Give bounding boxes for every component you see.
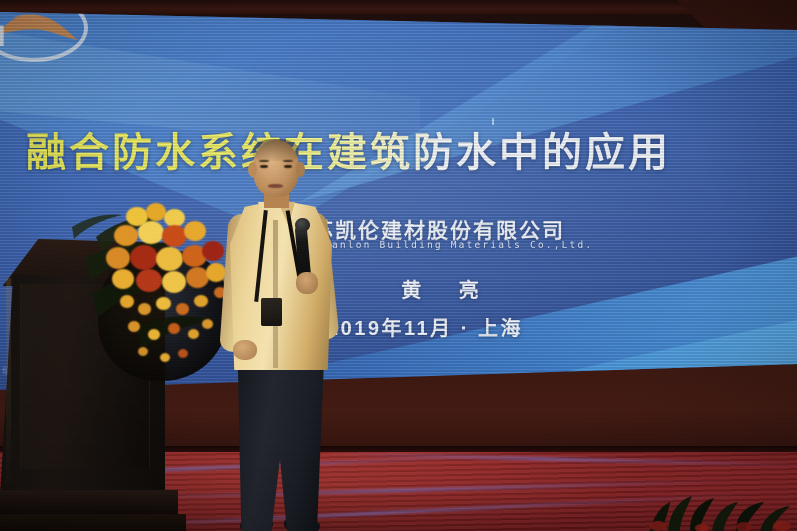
flower-blossom (138, 221, 164, 244)
flower-spray (156, 297, 171, 310)
podium-highlight (6, 278, 11, 483)
hall-wall-top (0, 0, 797, 14)
flower-spray (168, 323, 180, 334)
stage-plants (640, 488, 797, 531)
hand-right (296, 272, 318, 294)
eyebrow-left (259, 160, 269, 162)
flower-blossom (106, 247, 130, 269)
flower-spray (120, 295, 134, 308)
ear-left (248, 162, 257, 177)
flower-spray (128, 321, 140, 332)
shirt-placket (273, 220, 278, 368)
flower-blossom (156, 247, 183, 271)
hand-left (233, 340, 257, 360)
flower-blossom (136, 269, 162, 292)
flower-blossom (130, 245, 158, 270)
podium-base-plinth (0, 514, 186, 531)
flower-blossom (184, 221, 206, 241)
hair (253, 139, 299, 161)
flower-spray (194, 295, 208, 307)
flower-blossom (114, 225, 138, 246)
flower-spray (160, 353, 170, 362)
flower-spray (178, 349, 188, 358)
eyebrow-right (283, 160, 293, 162)
conference-photo: N 份 融合防水系统在建筑防水中的应用 江苏凯伦建材股份有限公司 Jiangsu… (0, 0, 797, 531)
speaker-person (210, 140, 365, 531)
flower-blossom (162, 271, 186, 293)
eye-left (260, 165, 268, 168)
ear-right (296, 162, 305, 177)
flower-spray (138, 303, 151, 315)
trousers (236, 360, 324, 531)
flower-blossom (112, 269, 134, 289)
flower-blossom (146, 203, 166, 221)
mouth (268, 184, 283, 188)
eye-right (284, 165, 292, 168)
flower-spray (138, 347, 148, 356)
canlon-logo-icon: N 份 (0, 12, 106, 74)
flower-spray (176, 303, 189, 315)
id-badge (261, 298, 282, 326)
flower-spray (188, 329, 199, 339)
logo-letter: N (0, 20, 6, 53)
slide-title: 融合防水系统在建筑防水中的应用 (26, 120, 786, 178)
flower-spray (148, 329, 160, 340)
